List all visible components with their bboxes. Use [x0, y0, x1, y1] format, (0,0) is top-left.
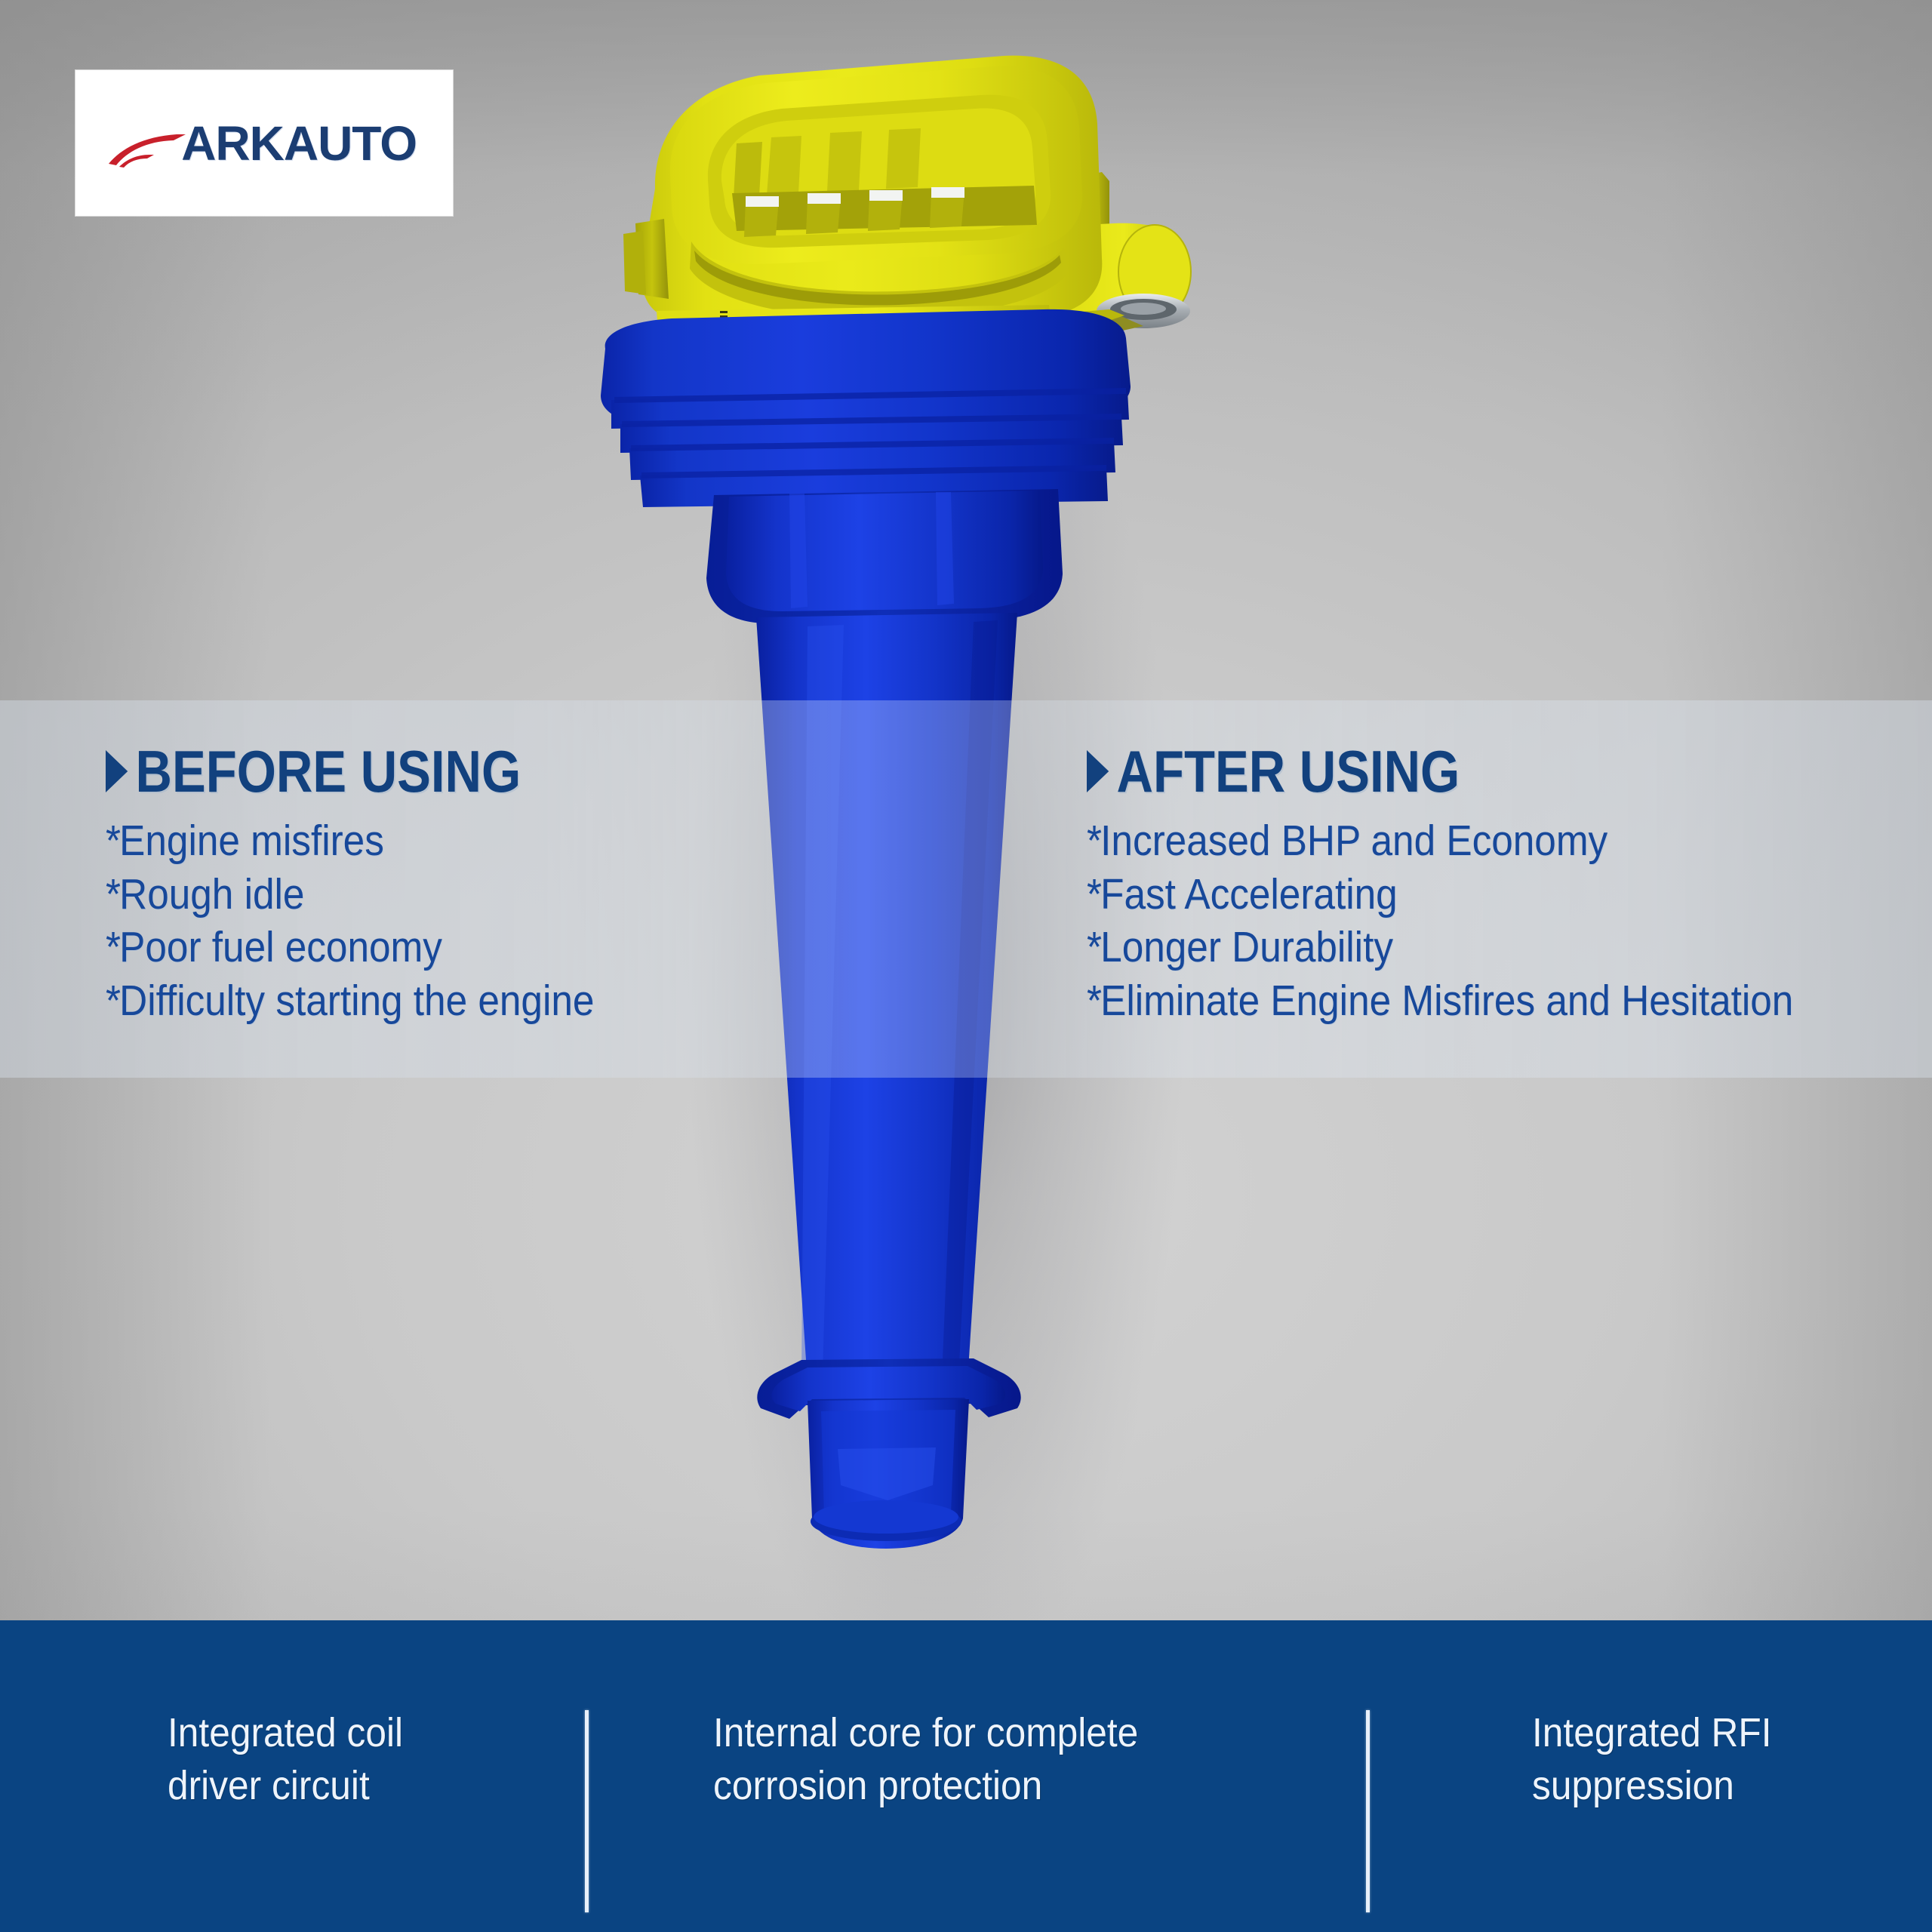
list-item-label: Longer Durability [1100, 923, 1393, 971]
list-item-label: Engine misfires [119, 817, 384, 865]
list-item: *Increased BHP and Economy [1087, 816, 1847, 869]
logo-wordmark: ARKAUTO [181, 119, 423, 168]
list-item: *Difficulty starting the engine [106, 976, 873, 1029]
feature-item-rfi-suppression: Integrated RFI suppression [1532, 1706, 1893, 1812]
list-item-label: Difficulty starting the engine [119, 977, 594, 1025]
before-using-heading: BEFORE USING [106, 743, 839, 799]
product-infographic: ARKAUTO [0, 0, 1932, 1932]
triangle-bullet-icon [106, 750, 128, 792]
after-using-heading-text: AFTER USING [1117, 743, 1460, 799]
list-item-label: Rough idle [119, 870, 304, 918]
list-item: *Rough idle [106, 869, 873, 923]
before-using-heading-text: BEFORE USING [136, 743, 521, 799]
triangle-bullet-icon [1087, 750, 1109, 792]
asterisk-bullet-icon: * [106, 977, 119, 1025]
list-item-label: Increased BHP and Economy [1100, 817, 1607, 865]
asterisk-bullet-icon: * [1087, 923, 1100, 971]
list-item: *Engine misfires [106, 816, 873, 869]
after-using-list: *Increased BHP and Economy *Fast Acceler… [1087, 816, 1847, 1029]
asterisk-bullet-icon: * [1087, 870, 1100, 918]
list-item: *Fast Accelerating [1087, 869, 1847, 923]
feature-item-internal-core: Internal core for complete corrosion pro… [713, 1706, 1241, 1812]
list-item: *Longer Durability [1087, 922, 1847, 976]
asterisk-bullet-icon: * [1087, 817, 1100, 865]
list-item-label: Fast Accelerating [1100, 870, 1397, 918]
after-using-heading: AFTER USING [1087, 743, 1814, 799]
list-item: *Eliminate Engine Misfires and Hesitatio… [1087, 976, 1847, 1029]
after-using-column: AFTER USING *Increased BHP and Economy *… [1087, 743, 1932, 1029]
asterisk-bullet-icon: * [106, 870, 119, 918]
list-item-label: Poor fuel economy [119, 923, 442, 971]
list-item-label: Eliminate Engine Misfires and Hesitation [1100, 977, 1793, 1025]
before-using-list: *Engine misfires *Rough idle *Poor fuel … [106, 816, 873, 1029]
list-item: *Poor fuel economy [106, 922, 873, 976]
asterisk-bullet-icon: * [106, 923, 119, 971]
before-using-column: BEFORE USING *Engine misfires *Rough idl… [106, 743, 958, 1029]
asterisk-bullet-icon: * [1087, 977, 1100, 1025]
brand-logo: ARKAUTO [75, 70, 453, 216]
asterisk-bullet-icon: * [106, 817, 119, 865]
feature-item-coil-driver: Integrated coil driver circuit [168, 1706, 528, 1812]
feature-list: Integrated coil driver circuit Internal … [0, 1702, 1932, 1921]
